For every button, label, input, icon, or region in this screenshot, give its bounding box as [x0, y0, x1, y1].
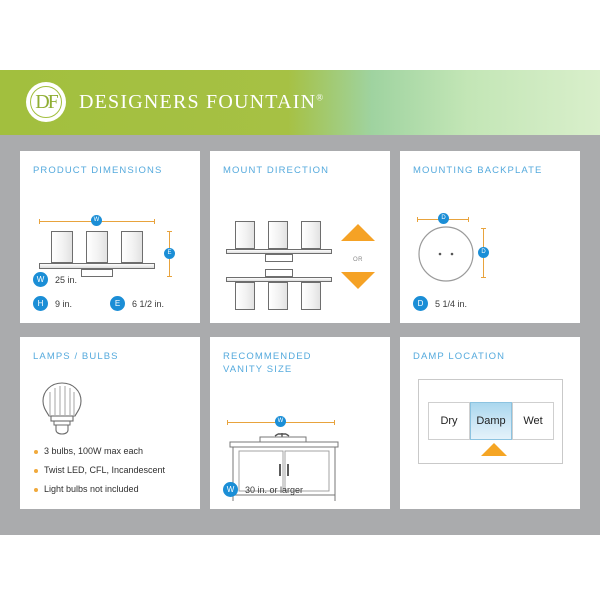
list-item: Twist LED, CFL, Incandescent: [34, 465, 194, 476]
backplate-height-cap-bottom: [481, 277, 486, 278]
triangle-down-icon: [341, 272, 375, 289]
diameter-value: 5 1/4 in.: [435, 299, 467, 309]
location-option-wet[interactable]: Wet: [512, 402, 554, 440]
list-item: 3 bulbs, 100W max each: [34, 446, 194, 457]
or-label: OR: [353, 257, 363, 263]
spec-cards-grid: PRODUCT DIMENSIONS W E: [20, 151, 580, 523]
triangle-up-icon: [341, 224, 375, 241]
bulb-spec-3: Light bulbs not included: [44, 484, 139, 495]
extension-value: 6 1/2 in.: [132, 299, 164, 309]
light-bulb-icon: [38, 379, 86, 437]
width-cap-left: [39, 219, 40, 224]
spec-line-height-extension: H 9 in. E 6 1/2 in.: [33, 296, 187, 311]
list-item: Light bulbs not included: [34, 484, 194, 495]
bullet-dot-icon: [34, 450, 38, 454]
spec-diameter: D 5 1/4 in.: [413, 296, 467, 311]
product-dimensions-specs: W 25 in. H 9 in. E 6 1/2 in.: [33, 263, 187, 311]
card-title-mount-direction: MOUNT DIRECTION: [223, 164, 377, 177]
width-badge-diagram: W: [91, 215, 102, 226]
down-backplate-tab: [265, 269, 293, 277]
bullet-dot-icon: [34, 469, 38, 473]
vanity-width-cap-left: [227, 420, 228, 425]
card-mounting-backplate: MOUNTING BACKPLATE D D: [400, 151, 580, 323]
spec-sheet: DF DESIGNERS FOUNTAIN® PRODUCT DIMENSION…: [0, 0, 600, 600]
spec-height: H 9 in.: [33, 296, 72, 311]
spec-width: W 25 in.: [33, 272, 77, 287]
vanity-width-cap-right: [334, 420, 335, 425]
registered-mark: ®: [316, 92, 324, 102]
card-mount-direction: MOUNT DIRECTION OR: [210, 151, 390, 323]
card-title-mounting-backplate: MOUNTING BACKPLATE: [413, 164, 567, 177]
card-title-damp-location: DAMP LOCATION: [413, 350, 567, 363]
spec-line-vanity-width: W 30 in. or larger: [223, 482, 377, 497]
spec-extension: E 6 1/2 in.: [110, 296, 164, 311]
height-cap-top: [167, 231, 172, 232]
shade-center: [86, 231, 108, 263]
bulb-spec-2: Twist LED, CFL, Incandescent: [44, 465, 165, 476]
vanity-size-specs: W 30 in. or larger: [223, 473, 377, 497]
mounting-backplate-specs: D 5 1/4 in.: [413, 287, 567, 311]
card-product-dimensions: PRODUCT DIMENSIONS W E: [20, 151, 200, 323]
width-value: 25 in.: [55, 275, 77, 285]
bullet-dot-icon: [34, 488, 38, 492]
diameter-badge-top: D: [438, 213, 449, 224]
width-badge: W: [33, 272, 48, 287]
card-vanity-size: RECOMMENDED VANITY SIZE W: [210, 337, 390, 509]
extension-badge-diagram: E: [164, 248, 175, 259]
down-shade-right: [301, 282, 321, 310]
height-value: 9 in.: [55, 299, 72, 309]
spec-vanity-width: W 30 in. or larger: [223, 482, 303, 497]
brand-header: DF DESIGNERS FOUNTAIN®: [0, 70, 600, 135]
card-damp-location: DAMP LOCATION Dry Damp Wet: [400, 337, 580, 509]
shade-left: [51, 231, 73, 263]
bulb-spec-1: 3 bulbs, 100W max each: [44, 446, 143, 457]
extension-badge: E: [110, 296, 125, 311]
spec-line-width: W 25 in.: [33, 272, 187, 287]
spec-line-diameter: D 5 1/4 in.: [413, 296, 567, 311]
designers-fountain-logo-icon: DF: [26, 82, 66, 122]
up-backplate-tab: [265, 254, 293, 262]
shade-right: [121, 231, 143, 263]
down-shade-center: [268, 282, 288, 310]
height-badge: H: [33, 296, 48, 311]
logo-monogram: DF: [26, 82, 66, 122]
location-option-dry[interactable]: Dry: [428, 402, 470, 440]
card-title-lamps-bulbs: LAMPS / BULBS: [33, 350, 187, 363]
width-cap-right: [154, 219, 155, 224]
brand-name: DESIGNERS FOUNTAIN®: [79, 91, 324, 114]
card-lamps-bulbs: LAMPS / BULBS 3 bulbs, 100W max each Twi…: [20, 337, 200, 509]
damp-location-diagram: Dry Damp Wet: [418, 379, 563, 464]
backplate-circle-icon: [417, 225, 475, 283]
location-rating-row: Dry Damp Wet: [428, 402, 554, 440]
backplate-width-cap-right: [468, 217, 469, 222]
up-shade-left: [235, 221, 255, 249]
triangle-up-icon: [481, 443, 507, 456]
card-title-vanity-size: RECOMMENDED VANITY SIZE: [223, 350, 377, 376]
location-option-damp[interactable]: Damp: [470, 402, 512, 440]
brand-name-text: DESIGNERS FOUNTAIN: [79, 91, 316, 113]
diameter-badge: D: [413, 296, 428, 311]
card-title-product-dimensions: PRODUCT DIMENSIONS: [33, 164, 187, 177]
backplate-height-cap-top: [481, 228, 486, 229]
backplate-width-cap-left: [417, 217, 418, 222]
vanity-width-badge: W: [223, 482, 238, 497]
up-shade-center: [268, 221, 288, 249]
lamps-bulbs-list: 3 bulbs, 100W max each Twist LED, CFL, I…: [34, 446, 194, 495]
diameter-badge-side: D: [478, 247, 489, 258]
up-shade-right: [301, 221, 321, 249]
down-shade-left: [235, 282, 255, 310]
brand-logo: DF DESIGNERS FOUNTAIN®: [26, 82, 324, 122]
vanity-width-value: 30 in. or larger: [245, 485, 303, 495]
